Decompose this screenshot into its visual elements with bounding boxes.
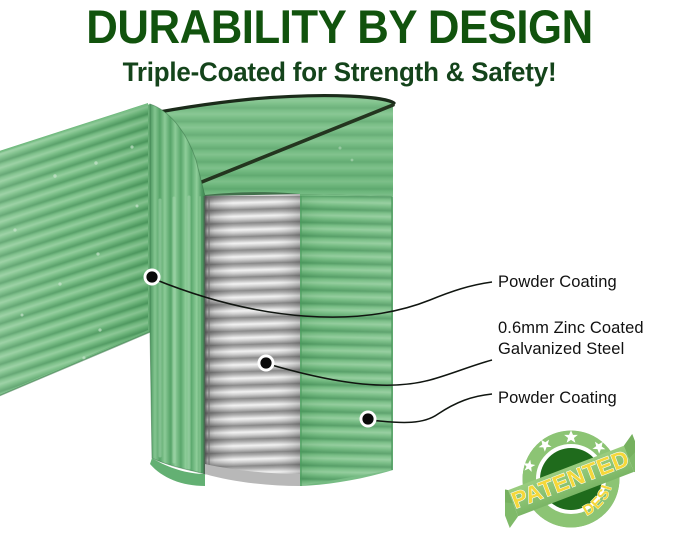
callout-dot-1[interactable] bbox=[258, 355, 275, 372]
poster-canvas: DURABILITY BY DESIGN Triple-Coated for S… bbox=[0, 0, 679, 534]
rim-right-segment bbox=[340, 97, 393, 196]
right-wall-panel bbox=[296, 147, 400, 519]
galvanized-steel-core bbox=[200, 171, 310, 504]
callout-label-powder-coating-inner: Powder Coating bbox=[498, 388, 617, 409]
callout-label-zinc-coated-steel: 0.6mm Zinc Coated Galvanized Steel bbox=[498, 318, 644, 360]
callout-dot-2[interactable] bbox=[360, 411, 377, 428]
patented-seal-icon: DESIGN PATENTED bbox=[505, 425, 635, 533]
callout-dot-0[interactable] bbox=[144, 269, 161, 286]
callout-label-powder-coating-outer: Powder Coating bbox=[498, 272, 617, 293]
